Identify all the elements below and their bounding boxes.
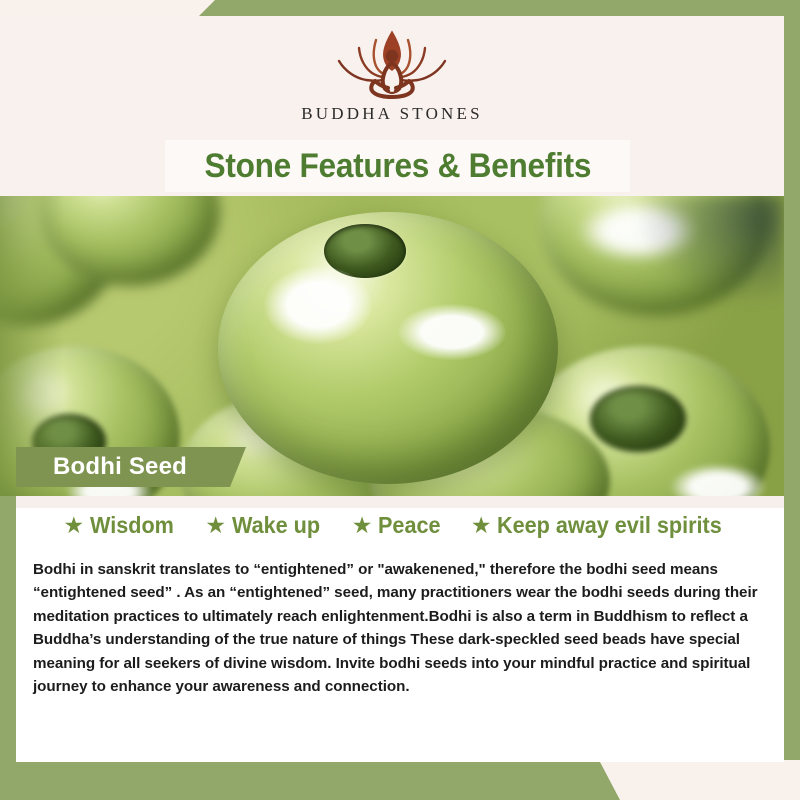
- feature-label: Peace: [378, 512, 441, 539]
- lotus-meditation-figure-logo-icon: [326, 26, 458, 102]
- frame-bottom-border: [0, 762, 800, 800]
- frame-top-border: [0, 0, 800, 16]
- feature-item-keep-away-evil-spirits: ★ Keep away evil spirits: [471, 512, 737, 539]
- feature-label: Wake up: [232, 512, 320, 539]
- photo-shadow-corner: [634, 196, 784, 306]
- star-icon: ★: [63, 514, 84, 537]
- title-panel: Stone Features & Benefits: [165, 140, 630, 192]
- feature-item-peace: ★ Peace: [352, 512, 445, 539]
- bead-highlight: [398, 304, 506, 360]
- bead-eye: [590, 386, 686, 452]
- feature-item-wake-up: ★ Wake up: [205, 512, 325, 539]
- star-icon: ★: [205, 514, 226, 537]
- brand-header: BUDDHA STONES: [0, 16, 784, 138]
- star-icon: ★: [471, 514, 492, 537]
- feature-list: ★ Wisdom ★ Wake up ★ Peace ★ Keep away e…: [16, 512, 784, 539]
- page-title: Stone Features & Benefits: [204, 147, 591, 186]
- infographic-page: BUDDHA STONES Stone Features & Benefits: [0, 0, 800, 800]
- product-label-text: Bodhi Seed: [53, 453, 187, 481]
- bead-highlight: [264, 266, 372, 344]
- content-top-divider: [16, 496, 784, 508]
- description-text: Bodhi in sanskrit translates to “entight…: [33, 558, 775, 698]
- feature-item-wisdom: ★ Wisdom: [63, 512, 179, 539]
- brand-name: BUDDHA STONES: [301, 104, 483, 124]
- frame-right-border: [784, 0, 800, 760]
- feature-label: Keep away evil spirits: [497, 512, 722, 539]
- feature-label: Wisdom: [90, 512, 174, 539]
- bead-highlight: [670, 464, 766, 496]
- product-label-banner: Bodhi Seed: [16, 447, 246, 487]
- bead-foreground: [218, 212, 558, 484]
- star-icon: ★: [352, 514, 373, 537]
- content-panel: ★ Wisdom ★ Wake up ★ Peace ★ Keep away e…: [16, 496, 784, 762]
